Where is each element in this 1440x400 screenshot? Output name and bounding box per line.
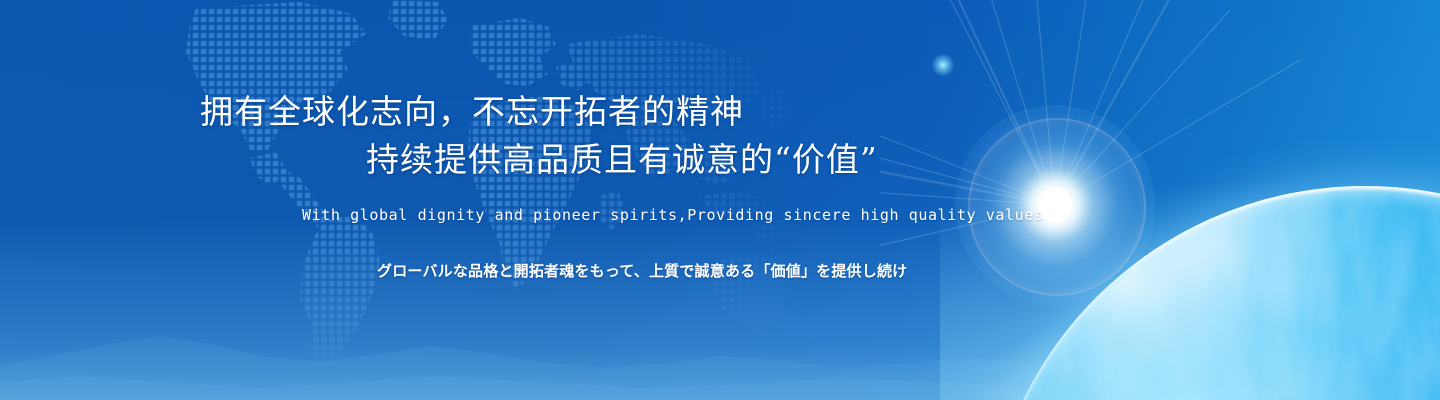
- headline-line-1: 拥有全球化志向，不忘开拓者的精神: [200, 92, 744, 131]
- subtitle-japanese: グローバルな品格と開拓者魂をもって、上質で誠意ある「価値」を提供し続け: [377, 260, 907, 281]
- banner-copy: 拥有全球化志向，不忘开拓者的精神 持续提供高品质且有诚意的“价值” With g…: [0, 0, 1100, 400]
- headline-line-2: 持续提供高品质且有诚意的“价值”: [200, 136, 878, 184]
- headline: 拥有全球化志向，不忘开拓者的精神 持续提供高品质且有诚意的“价值”: [200, 88, 878, 184]
- subtitle-english: With global dignity and pioneer spirits,…: [302, 206, 1044, 224]
- hero-banner: 拥有全球化志向，不忘开拓者的精神 持续提供高品质且有诚意的“价值” With g…: [0, 0, 1440, 400]
